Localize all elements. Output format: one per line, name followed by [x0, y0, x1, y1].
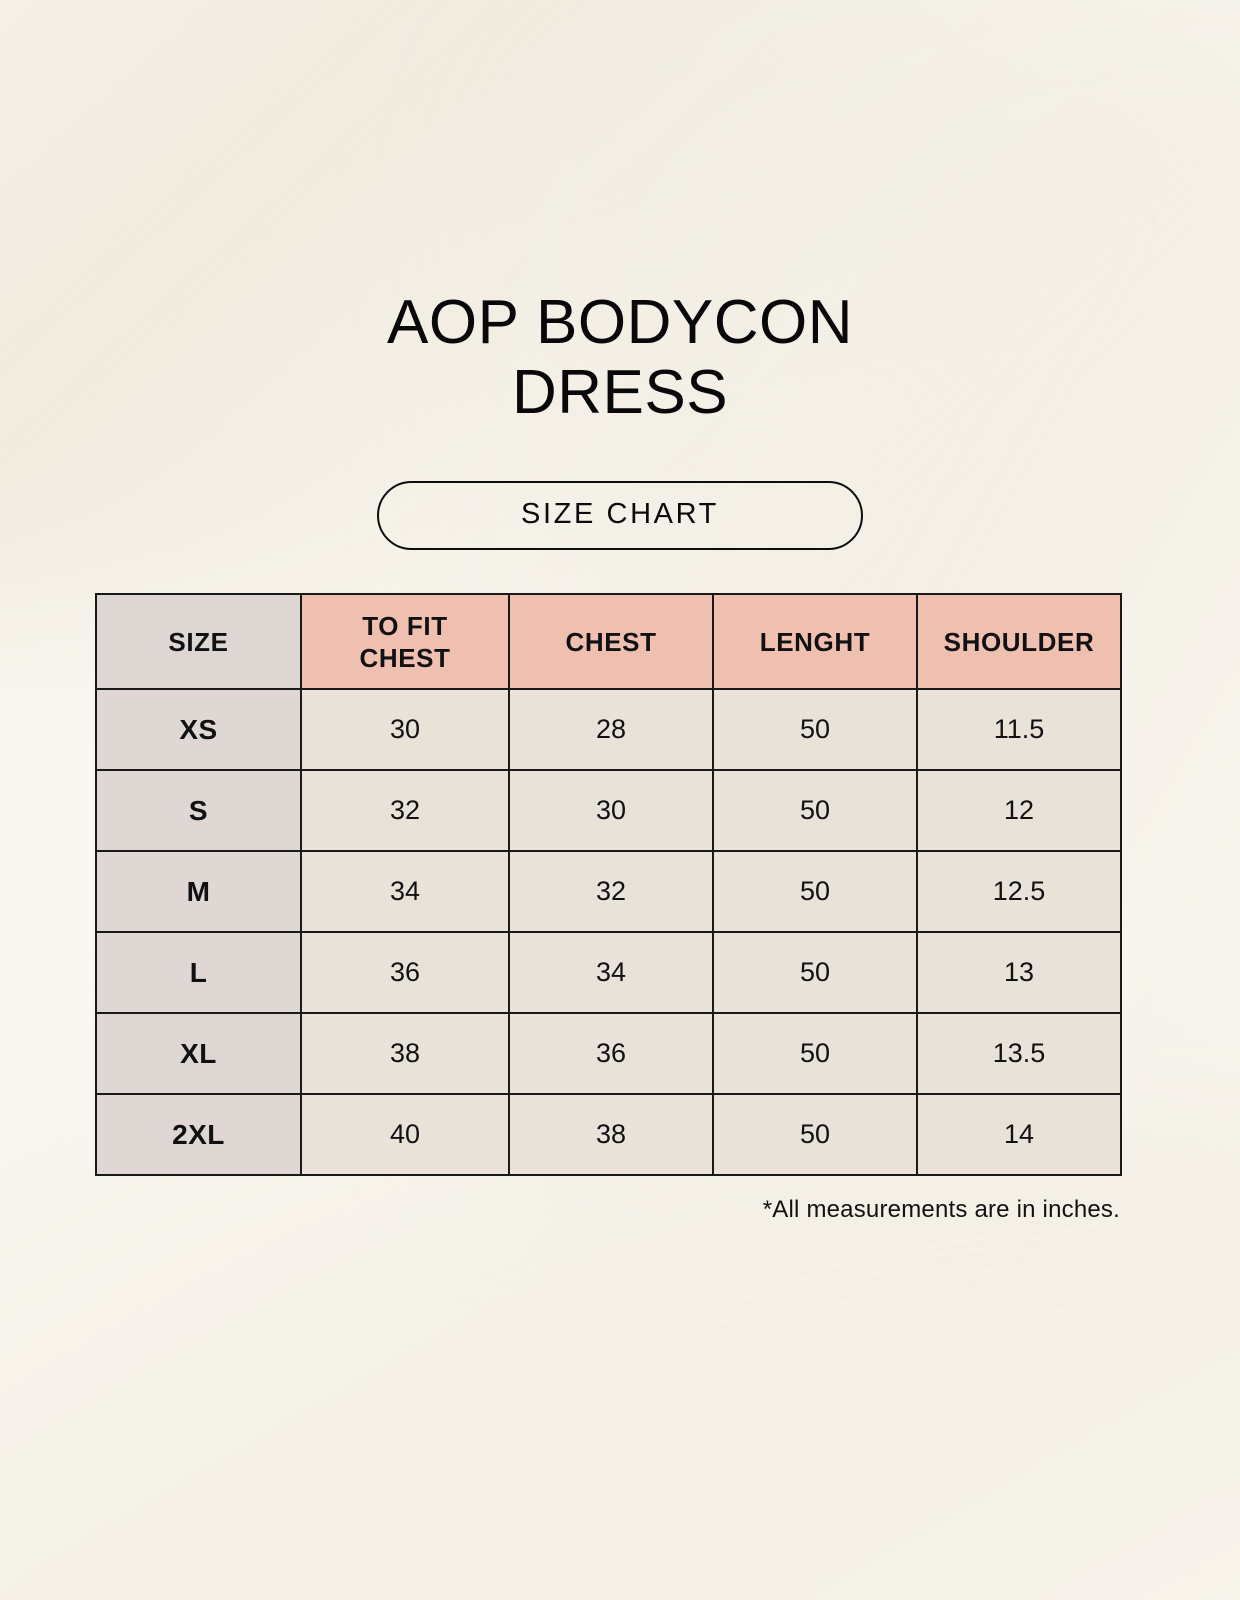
cell-to-fit-chest: 30 — [301, 689, 509, 770]
cell-size: M — [96, 851, 301, 932]
cell-chest: 32 — [509, 851, 713, 932]
cell-to-fit-chest: 36 — [301, 932, 509, 1013]
table-row: XL 38 36 50 13.5 — [96, 1013, 1121, 1094]
column-header-lenght: LENGHT — [713, 594, 917, 689]
cell-size: S — [96, 770, 301, 851]
cell-shoulder: 13 — [917, 932, 1121, 1013]
cell-chest: 30 — [509, 770, 713, 851]
cell-shoulder: 14 — [917, 1094, 1121, 1175]
cell-chest: 34 — [509, 932, 713, 1013]
cell-shoulder: 12 — [917, 770, 1121, 851]
cell-to-fit-chest: 34 — [301, 851, 509, 932]
table-header: SIZE TO FIT CHEST CHEST LENGHT SHOULDER — [96, 594, 1121, 689]
cell-to-fit-chest: 40 — [301, 1094, 509, 1175]
cell-shoulder: 12.5 — [917, 851, 1121, 932]
cell-lenght: 50 — [713, 1013, 917, 1094]
cell-size: XS — [96, 689, 301, 770]
cell-size: L — [96, 932, 301, 1013]
cell-shoulder: 13.5 — [917, 1013, 1121, 1094]
cell-chest: 36 — [509, 1013, 713, 1094]
cell-chest: 38 — [509, 1094, 713, 1175]
size-table-container: SIZE TO FIT CHEST CHEST LENGHT SHOULDER … — [95, 593, 1120, 1176]
column-header-chest: CHEST — [509, 594, 713, 689]
cell-lenght: 50 — [713, 932, 917, 1013]
column-header-size: SIZE — [96, 594, 301, 689]
table-header-row: SIZE TO FIT CHEST CHEST LENGHT SHOULDER — [96, 594, 1121, 689]
cell-lenght: 50 — [713, 1094, 917, 1175]
cell-to-fit-chest: 38 — [301, 1013, 509, 1094]
page-title: AOP BODYCON DRESS — [0, 288, 1240, 428]
table-row: S 32 30 50 12 — [96, 770, 1121, 851]
cell-shoulder: 11.5 — [917, 689, 1121, 770]
column-header-shoulder: SHOULDER — [917, 594, 1121, 689]
cell-size: XL — [96, 1013, 301, 1094]
size-chart-page: AOP BODYCON DRESS SIZE CHART SIZE TO FIT… — [0, 0, 1240, 1600]
measurements-footnote: *All measurements are in inches. — [95, 1196, 1120, 1224]
cell-lenght: 50 — [713, 689, 917, 770]
cell-size: 2XL — [96, 1094, 301, 1175]
column-header-to-fit-chest: TO FIT CHEST — [301, 594, 509, 689]
cell-lenght: 50 — [713, 770, 917, 851]
cell-to-fit-chest: 32 — [301, 770, 509, 851]
table-row: L 36 34 50 13 — [96, 932, 1121, 1013]
table-body: XS 30 28 50 11.5 S 32 30 50 12 M — [96, 689, 1121, 1175]
table-row: 2XL 40 38 50 14 — [96, 1094, 1121, 1175]
cell-lenght: 50 — [713, 851, 917, 932]
size-chart-pill-container: SIZE CHART — [0, 481, 1240, 550]
cell-chest: 28 — [509, 689, 713, 770]
size-chart-badge: SIZE CHART — [377, 481, 863, 550]
size-table: SIZE TO FIT CHEST CHEST LENGHT SHOULDER … — [95, 593, 1122, 1176]
table-row: XS 30 28 50 11.5 — [96, 689, 1121, 770]
table-row: M 34 32 50 12.5 — [96, 851, 1121, 932]
